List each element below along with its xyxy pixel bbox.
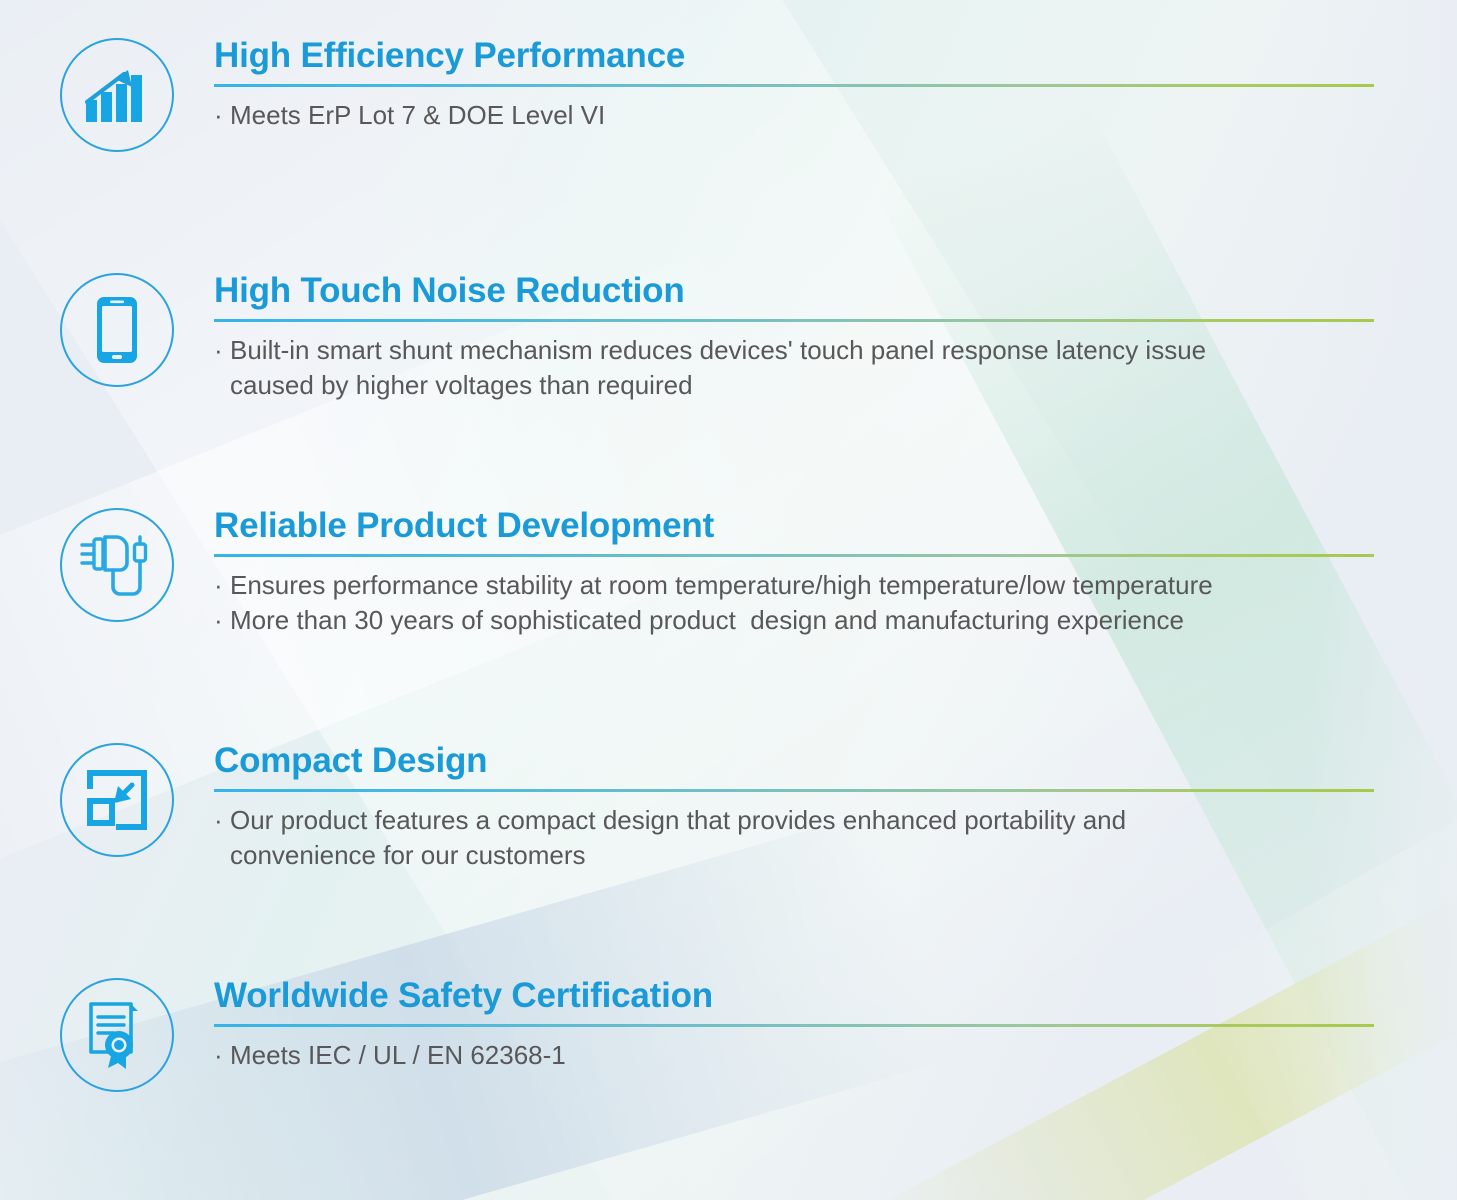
power-adapter-icon — [79, 531, 155, 599]
compact-resize-icon — [86, 769, 148, 831]
bullet-text: Ensures performance stability at room te… — [230, 568, 1457, 603]
certificate-seal-icon — [86, 1000, 148, 1070]
feature-content: Reliable Product Development·Ensures per… — [214, 505, 1457, 639]
bullet-text: Meets IEC / UL / EN 62368-1 — [230, 1038, 1457, 1073]
feature-divider — [214, 319, 1374, 322]
feature-title: High Efficiency Performance — [214, 37, 1457, 75]
feature-bullet-list: ·Meets ErP Lot 7 & DOE Level VI — [214, 98, 1457, 133]
feature-icon-container — [57, 975, 177, 1095]
feature-title: Worldwide Safety Certification — [214, 977, 1457, 1015]
bar-chart-growth-icon — [84, 64, 150, 126]
smartphone-icon — [95, 295, 139, 365]
bullet-marker-icon: · — [214, 333, 230, 368]
bar-chart-growth-icon-circle — [60, 38, 174, 152]
bullet-text: More than 30 years of sophisticated prod… — [230, 603, 1457, 638]
bullet-text: Built-in smart shunt mechanism reduces d… — [230, 333, 1457, 368]
feature-bullet: ·caused by higher voltages than required — [214, 368, 1457, 403]
feature-divider — [214, 84, 1374, 87]
feature-item: Reliable Product Development·Ensures per… — [0, 505, 1457, 639]
feature-title: Compact Design — [214, 742, 1457, 780]
feature-bullet-list: ·Our product features a compact design t… — [214, 803, 1457, 874]
feature-bullet-list: ·Meets IEC / UL / EN 62368-1 — [214, 1038, 1457, 1073]
bullet-marker-icon: · — [214, 98, 230, 133]
power-adapter-icon-circle — [60, 508, 174, 622]
feature-content: Worldwide Safety Certification·Meets IEC… — [214, 975, 1457, 1073]
bullet-text: convenience for our customers — [230, 838, 1457, 873]
feature-bullet-list: ·Ensures performance stability at room t… — [214, 568, 1457, 639]
feature-item: High Efficiency Performance·Meets ErP Lo… — [0, 35, 1457, 155]
feature-list: High Efficiency Performance·Meets ErP Lo… — [0, 0, 1457, 1200]
bullet-marker-icon: · — [214, 568, 230, 603]
feature-bullet: ·Meets ErP Lot 7 & DOE Level VI — [214, 98, 1457, 133]
feature-bullet: ·Meets IEC / UL / EN 62368-1 — [214, 1038, 1457, 1073]
feature-icon-container — [57, 35, 177, 155]
feature-content: Compact Design·Our product features a co… — [214, 740, 1457, 874]
feature-icon-container — [57, 505, 177, 625]
feature-icon-container — [57, 740, 177, 860]
feature-bullet: ·Ensures performance stability at room t… — [214, 568, 1457, 603]
bullet-text: caused by higher voltages than required — [230, 368, 1457, 403]
feature-infographic-page: High Efficiency Performance·Meets ErP Lo… — [0, 0, 1457, 1200]
bullet-text: Meets ErP Lot 7 & DOE Level VI — [230, 98, 1457, 133]
feature-divider — [214, 1024, 1374, 1027]
feature-content: High Efficiency Performance·Meets ErP Lo… — [214, 35, 1457, 133]
feature-item: Compact Design·Our product features a co… — [0, 740, 1457, 874]
feature-divider — [214, 554, 1374, 557]
feature-bullet: ·Built-in smart shunt mechanism reduces … — [214, 333, 1457, 368]
bullet-marker-icon: · — [214, 803, 230, 838]
feature-item: Worldwide Safety Certification·Meets IEC… — [0, 975, 1457, 1095]
feature-bullet: ·More than 30 years of sophisticated pro… — [214, 603, 1457, 638]
feature-item: High Touch Noise Reduction·Built-in smar… — [0, 270, 1457, 404]
bullet-text: Our product features a compact design th… — [230, 803, 1457, 838]
bullet-marker-icon: · — [214, 1038, 230, 1073]
feature-divider — [214, 789, 1374, 792]
feature-bullet: ·convenience for our customers — [214, 838, 1457, 873]
feature-content: High Touch Noise Reduction·Built-in smar… — [214, 270, 1457, 404]
feature-icon-container — [57, 270, 177, 390]
feature-bullet-list: ·Built-in smart shunt mechanism reduces … — [214, 333, 1457, 404]
compact-resize-icon-circle — [60, 743, 174, 857]
smartphone-icon-circle — [60, 273, 174, 387]
feature-bullet: ·Our product features a compact design t… — [214, 803, 1457, 838]
feature-title: High Touch Noise Reduction — [214, 272, 1457, 310]
feature-title: Reliable Product Development — [214, 507, 1457, 545]
bullet-marker-icon: · — [214, 603, 230, 638]
certificate-seal-icon-circle — [60, 978, 174, 1092]
